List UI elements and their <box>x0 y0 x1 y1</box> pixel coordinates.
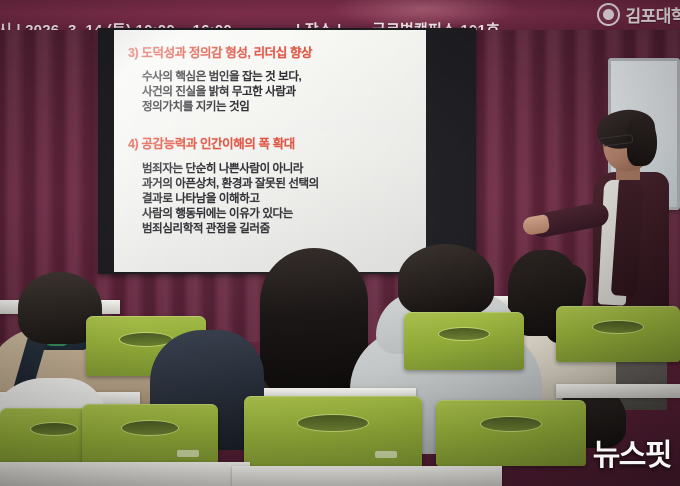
slide-heading-3: 3) 도덕성과 정의감 형성, 리더십 향상 <box>128 42 416 61</box>
chair-back-3[interactable] <box>556 306 680 362</box>
desk-mid-right <box>556 384 680 398</box>
slide-body-3-line-3: 정의가치를 지키는 것임 <box>142 100 416 115</box>
chair-handle-slot <box>438 327 490 341</box>
chair-handle-slot <box>592 320 644 334</box>
slide-heading-4: 4) 공감능력과 인간이해의 폭 확대 <box>128 133 416 152</box>
slide-body-4-line-2: 과거의 아픈상처, 환경과 잘못된 선택의 <box>142 177 416 192</box>
chair-handle-slot <box>297 414 369 432</box>
slide-body-4-line-5: 범죄심리학적 관점을 길러줌 <box>142 222 416 237</box>
student-gray-hoodie-head <box>398 244 494 316</box>
chair-back-2[interactable] <box>404 312 524 370</box>
slide-body-3-line-2: 사건의 진실을 밝혀 무고한 사람과 <box>142 85 416 100</box>
university-name: 김포대학 <box>625 2 680 27</box>
projection-screen-frame: 3) 도덕성과 정의감 형성, 리더십 향상 수사의 핵심은 범인을 잡는 것 … <box>98 28 476 274</box>
slide-body-3: 수사의 핵심은 범인을 잡는 것 보다, 사건의 진실을 밝혀 무고한 사람과 … <box>142 70 416 115</box>
chair-front-3[interactable] <box>244 396 422 468</box>
desk-front-left <box>0 462 250 486</box>
chair-handle-slot <box>480 416 542 432</box>
slide-body-4: 범죄자는 단순히 나쁜사람이 아니라 과거의 아픈상처, 환경과 잘못된 선택의… <box>142 162 416 237</box>
chair-label <box>375 451 397 458</box>
watermark: 뉴스핏 <box>593 430 671 474</box>
lecture-hall-photo: 시 | 2026. 3. 14 (토) 10:00 ~ 16:00 | 장소 |… <box>0 0 680 486</box>
university-logo: 김포대학 <box>597 2 680 27</box>
slide-body-4-line-4: 사람의 행동뒤에는 이유가 있다는 <box>142 207 416 222</box>
chair-label <box>177 450 199 457</box>
chair-front-2[interactable] <box>82 404 218 466</box>
slide-body-4-line-1: 범죄자는 단순히 나쁜사람이 아니라 <box>142 162 416 177</box>
slide-body-3-line-1: 수사의 핵심은 범인을 잡는 것 보다, <box>142 70 416 85</box>
event-banner: 시 | 2026. 3. 14 (토) 10:00 ~ 16:00 | 장소 |… <box>0 0 680 30</box>
chair-handle-slot <box>30 422 78 436</box>
chair-handle-slot <box>121 420 179 436</box>
projection-screen-surface: 3) 도덕성과 정의감 형성, 리더십 향상 수사의 핵심은 범인을 잡는 것 … <box>114 30 426 272</box>
slide-content: 3) 도덕성과 정의감 형성, 리더십 향상 수사의 핵심은 범인을 잡는 것 … <box>114 30 426 237</box>
desk-front-right <box>232 466 502 486</box>
slide-body-4-line-3: 결과로 나타남을 이해하고 <box>142 192 416 207</box>
circular-emblem-icon <box>597 3 620 26</box>
chair-front-4[interactable] <box>436 400 586 466</box>
